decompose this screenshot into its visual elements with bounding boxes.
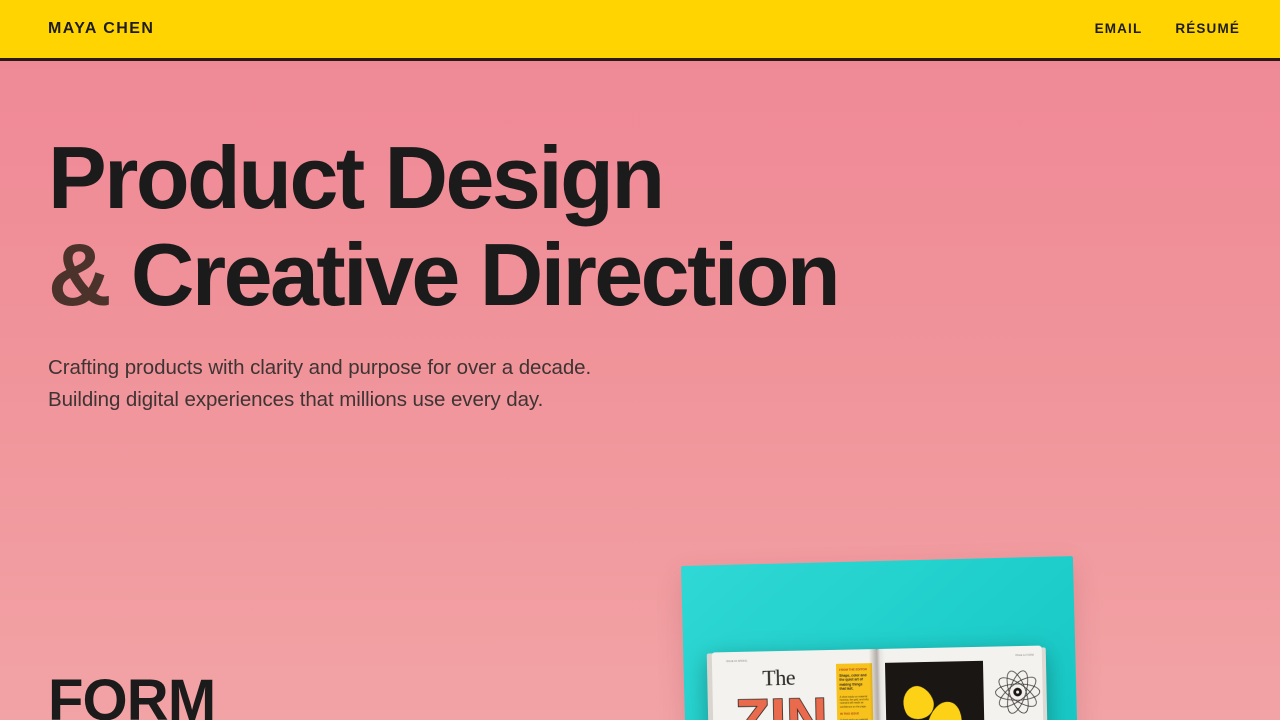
magazine-left-page: ISSUE 04 SPRING The ZIN FROM THE EDITOR … [712, 649, 880, 720]
yellow-column-lead: Shape, color and the quiet art of making… [839, 673, 869, 691]
yellow-column-kicker: FROM THE EDITOR [839, 667, 869, 672]
nav-link-resume[interactable]: RÉSUMÉ [1175, 22, 1240, 36]
hero-title-line1: Product Design [48, 128, 663, 227]
magazine-photo: ISSUE 04 SPRING The ZIN FROM THE EDITOR … [712, 646, 1045, 720]
section-label-form: FORM [48, 672, 215, 720]
main-nav: EMAIL RÉSUMÉ [1095, 22, 1240, 36]
right-page-marginalia: PAGE 12 FORM [1015, 654, 1033, 658]
hero-title-line2: Creative Direction [109, 225, 838, 324]
site-header: MAYA CHEN EMAIL RÉSUMÉ [0, 0, 1280, 61]
brand-logo[interactable]: MAYA CHEN [48, 21, 154, 37]
page-title: Product Design & Creative Direction [48, 129, 1280, 323]
showcase-figure: ISSUE 04 SPRING The ZIN FROM THE EDITOR … [681, 566, 1073, 720]
hero-subtitle: Crafting products with clarity and purpo… [48, 352, 1280, 416]
magazine-right-page: PAGE 12 FORM [877, 646, 1045, 720]
hero-section: Product Design & Creative Direction Craf… [0, 61, 1280, 416]
dark-photo-panel [885, 661, 985, 720]
yellow-column-subhead: IN THIS ISSUE [840, 712, 870, 716]
yellow-column-body: A short study on material honesty, the g… [840, 695, 870, 709]
book-gutter-shadow [869, 649, 888, 720]
left-page-marginalia: ISSUE 04 SPRING [726, 660, 747, 664]
masthead-title: ZIN [735, 690, 829, 720]
nav-link-email[interactable]: EMAIL [1095, 22, 1143, 36]
page-root: MAYA CHEN EMAIL RÉSUMÉ Product Design & … [0, 0, 1280, 720]
hero-ampersand: & [48, 225, 109, 324]
atom-flower-icon [993, 668, 1042, 717]
